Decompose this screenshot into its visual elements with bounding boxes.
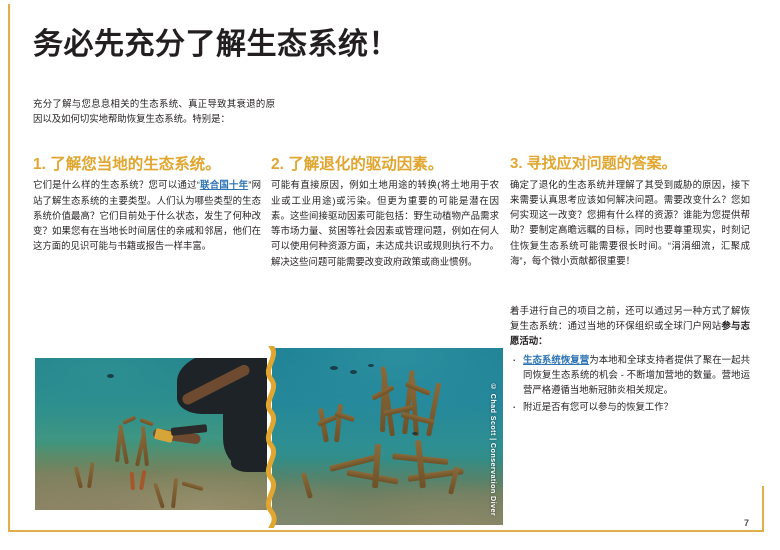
restoration-camps-link[interactable]: 生态系统恢复营 xyxy=(523,354,589,365)
photo-staghorn-coral xyxy=(272,348,503,525)
un-decade-link[interactable]: 联合国十年 xyxy=(200,179,248,190)
section-1-heading: 1. 了解您当地的生态系统。 xyxy=(33,155,261,174)
photo-credit: © Chad Scott | Conservation Diver xyxy=(484,382,498,516)
wavy-divider xyxy=(260,346,282,528)
section-1-text-before-link: 它们是什么样的生态系统？您可以通过“ xyxy=(33,179,200,190)
page-frame-left-rule xyxy=(8,4,10,532)
section-2-body: 可能有直接原因，例如土地用途的转换(将土地用于农业或工业用途)或污染。但更为重要… xyxy=(271,177,499,268)
section-degradation-drivers: 2. 了解退化的驱动因素。 可能有直接原因，例如土地用途的转换(将土地用于农业或… xyxy=(271,155,499,269)
volunteer-block: 着手进行自己的项目之前，还可以通过另一种方式了解恢复生态系统：通过当地的环保组织… xyxy=(510,303,750,417)
fish xyxy=(368,364,374,367)
section-1-body: 它们是什么样的生态系统？您可以通过“联合国十年”网站了解生态系统的主要类型。人们… xyxy=(33,177,261,253)
fish xyxy=(412,432,418,435)
page-frame-bottom-rule xyxy=(8,530,764,532)
section-2-heading: 2. 了解退化的驱动因素。 xyxy=(271,155,499,174)
section-3-heading: 3. 寻找应对问题的答案。 xyxy=(510,155,750,174)
fish xyxy=(107,374,114,378)
volunteer-lead: 着手进行自己的项目之前，还可以通过另一种方式了解恢复生态系统：通过当地的环保组织… xyxy=(510,303,750,349)
document-page: 务必先充分了解生态系统！ 充分了解与您息息相关的生态系统、真正导致其衰退的原因以… xyxy=(0,0,780,550)
volunteer-bullet-list: 生态系统恢复营为本地和全球支持者提供了聚在一起共同恢复生态系统的机会 - 不断增… xyxy=(510,352,750,415)
list-item: 附近是否有您可以参与的恢复工作？ xyxy=(510,399,750,414)
section-find-answers: 3. 寻找应对问题的答案。 确定了退化的生态系统并理解了其受到威胁的原因，接下来… xyxy=(510,155,750,268)
fish xyxy=(330,366,338,370)
intro-paragraph: 充分了解与您息息相关的生态系统、真正导致其衰退的原因以及如何切实地帮助恢复生态系… xyxy=(33,96,275,126)
section-know-your-ecosystem: 1. 了解您当地的生态系统。 它们是什么样的生态系统？您可以通过“联合国十年”网… xyxy=(33,155,261,254)
section-3-body: 确定了退化的生态系统并理解了其受到威胁的原因，接下来需要认真思考应该如何解决问题… xyxy=(510,177,750,268)
page-title: 务必先充分了解生态系统！ xyxy=(33,28,399,63)
photo-diver-reef xyxy=(35,358,267,510)
volunteer-lead-normal: 着手进行自己的项目之前，还可以通过另一种方式了解恢复生态系统：通过当地的环保组织… xyxy=(510,305,750,331)
list-item: 生态系统恢复营为本地和全球支持者提供了聚在一起共同恢复生态系统的机会 - 不断增… xyxy=(510,352,750,398)
page-frame-right-rule xyxy=(762,486,764,532)
page-number: 7 xyxy=(744,518,749,528)
fish xyxy=(350,370,357,374)
bullet-2-text: 附近是否有您可以参与的恢复工作？ xyxy=(523,401,673,412)
